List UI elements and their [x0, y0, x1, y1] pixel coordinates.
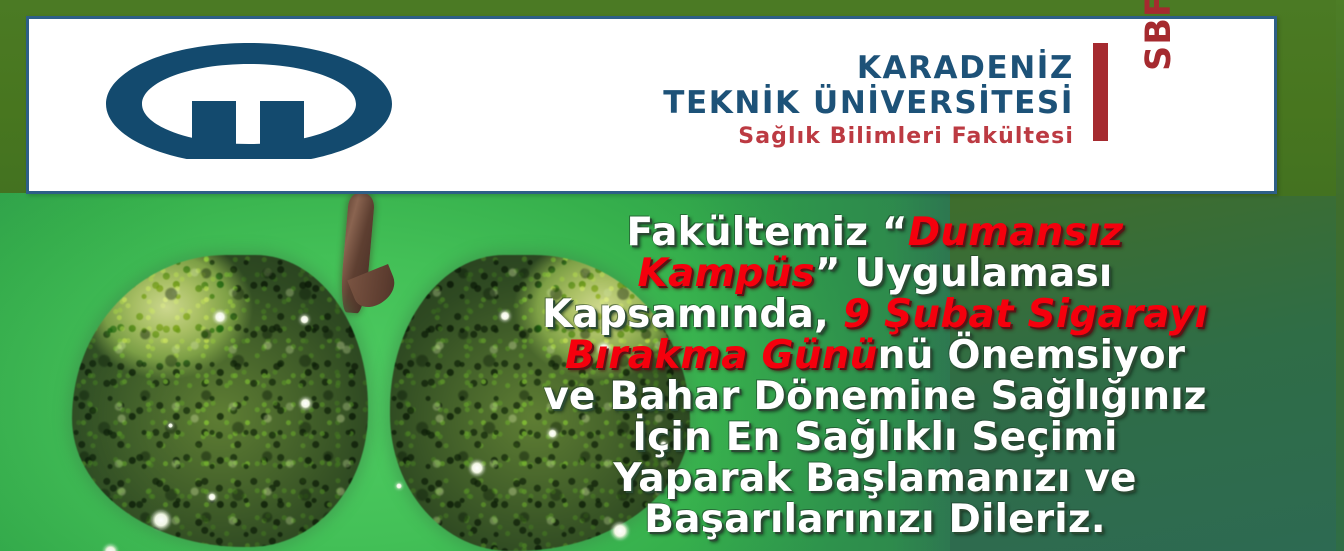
university-brand-block: KARADENİZ TEKNİK ÜNİVERSİTESİ Sağlık Bil… — [474, 53, 1074, 148]
headline-run-2-1: Kampüs — [638, 251, 815, 296]
headline-run-1-1: Fakültemiz “ — [627, 210, 908, 255]
headline-run-4-2: nü Önemsiyor — [878, 333, 1186, 378]
flower-speckle — [300, 315, 309, 324]
headline-run-7-1: Yaparak Başlamanızı ve — [613, 456, 1136, 501]
flower-speckle — [208, 493, 216, 501]
headline-line-4: Bırakma Gününü Önemsiyor — [420, 335, 1330, 376]
headline-line-2: Kampüs” Uygulaması — [420, 253, 1330, 294]
flower-speckle — [152, 511, 170, 529]
left-lung-lobe — [72, 255, 368, 547]
brown-branch-bronchus-icon — [347, 264, 401, 312]
ktu-logo-mark — [84, 37, 414, 177]
brand-line-karadeniz: KARADENİZ — [474, 53, 1074, 84]
headline-run-8-1: Başarılarınızı Dileriz. — [644, 497, 1106, 542]
headline-line-1: Fakültemiz “Dumansız — [420, 212, 1330, 253]
headline-run-1-2: Dumansız — [908, 210, 1124, 255]
announcement-headline: Fakültemiz “DumansızKampüs” UygulamasıKa… — [420, 212, 1330, 540]
red-vertical-divider — [1093, 43, 1108, 141]
brand-line-faculty: Sağlık Bilimleri Fakültesi — [474, 126, 1074, 148]
faculty-abbrev-sbf: SBF — [1139, 0, 1179, 71]
headline-line-3: Kapsamında, 9 Şubat Sigarayı — [420, 294, 1330, 335]
headline-run-4-1: Bırakma Günü — [565, 333, 878, 378]
headline-line-5: ve Bahar Dönemine Sağlığınız — [420, 376, 1330, 417]
background-right-edge — [1336, 0, 1344, 551]
headline-run-3-2: 9 Şubat Sigarayı — [843, 292, 1208, 337]
headline-run-6-1: İçin En Sağlıklı Seçimi — [632, 415, 1117, 460]
flower-speckle — [104, 545, 117, 551]
brand-line-teknik-universitesi: TEKNİK ÜNİVERSİTESİ — [474, 88, 1074, 119]
flower-speckle — [396, 483, 402, 489]
brown-branch-trachea-icon — [339, 193, 375, 314]
headline-run-2-2: ” Uygulaması — [815, 251, 1113, 296]
flower-speckle — [168, 423, 173, 428]
university-header-card: KARADENİZ TEKNİK ÜNİVERSİTESİ Sağlık Bil… — [26, 16, 1277, 194]
poster-canvas: KARADENİZ TEKNİK ÜNİVERSİTESİ Sağlık Bil… — [0, 0, 1344, 551]
headline-line-7: Yaparak Başlamanızı ve — [420, 458, 1330, 499]
headline-line-6: İçin En Sağlıklı Seçimi — [420, 417, 1330, 458]
headline-line-8: Başarılarınızı Dileriz. — [420, 499, 1330, 540]
headline-run-3-1: Kapsamında, — [542, 292, 843, 337]
flower-speckle — [300, 398, 311, 409]
flower-speckle — [214, 311, 226, 323]
headline-run-5-1: ve Bahar Dönemine Sağlığınız — [543, 374, 1206, 419]
